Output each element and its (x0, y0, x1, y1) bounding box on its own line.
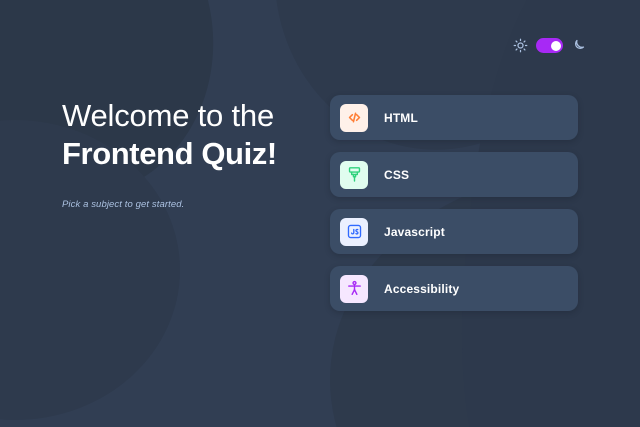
subject-list: HTML CSS (330, 95, 578, 311)
subject-label: CSS (384, 168, 409, 182)
subject-card-accessibility[interactable]: Accessibility (330, 266, 578, 311)
subject-label: Javascript (384, 225, 445, 239)
subject-selection-panel: HTML CSS (330, 95, 578, 311)
theme-toggle-switch[interactable] (536, 38, 563, 53)
theme-toggle-knob (551, 41, 561, 51)
subject-card-html[interactable]: HTML (330, 95, 578, 140)
hero-section: Welcome to the Frontend Quiz! Pick a sub… (62, 95, 330, 311)
accessibility-person-icon (340, 275, 368, 303)
subject-label: HTML (384, 111, 418, 125)
subject-label: Accessibility (384, 282, 459, 296)
subject-card-css[interactable]: CSS (330, 152, 578, 197)
page-title-line2: Frontend Quiz! (62, 135, 330, 173)
css-paintbrush-icon (340, 161, 368, 189)
page-title-line1: Welcome to the (62, 97, 330, 135)
page-subtitle: Pick a subject to get started. (62, 199, 330, 210)
theme-toggle-group[interactable] (513, 38, 586, 53)
moon-icon (571, 38, 586, 53)
quiz-app-window: Welcome to the Frontend Quiz! Pick a sub… (0, 0, 640, 427)
javascript-js-icon (340, 218, 368, 246)
subject-card-javascript[interactable]: Javascript (330, 209, 578, 254)
html-code-icon (340, 104, 368, 132)
sun-icon (513, 38, 528, 53)
